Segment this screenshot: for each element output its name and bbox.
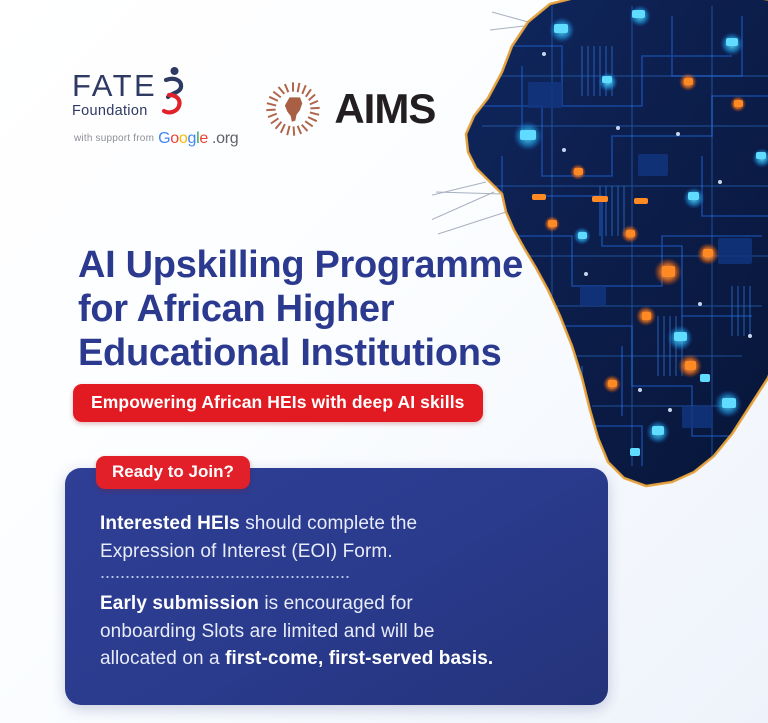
early-rest-line1: is encouraged for — [259, 593, 413, 614]
google-letter-o1: o — [170, 131, 179, 147]
fate-foundation-logo: FATE Foundation with support from Google… — [72, 70, 238, 148]
early-line3-bold: first-come, first-served basis. — [225, 648, 493, 669]
headline-line-2: for African Higher — [78, 287, 658, 331]
google-wordmark: Google — [158, 131, 208, 147]
early-bold-lead: Early submission — [100, 593, 259, 614]
tagline-banner: Empowering African HEIs with deep AI ski… — [73, 384, 483, 422]
poster-canvas: FATE Foundation with support from Google… — [0, 0, 768, 723]
google-letter-g2: g — [187, 131, 196, 147]
fate-subtitle: Foundation — [72, 104, 148, 119]
paragraph-eoi: Interested HEIs should complete the Expr… — [100, 510, 580, 565]
google-letter-o2: o — [179, 131, 188, 147]
google-letter-e: e — [199, 131, 208, 147]
support-prefix: with support from — [74, 133, 154, 144]
aims-wordmark: AIMS — [334, 88, 435, 130]
dotted-divider — [100, 576, 350, 578]
paragraph-early-submission: Early submission is encouraged for onboa… — [100, 590, 580, 673]
fate-logo-mark: FATE Foundation — [72, 70, 184, 119]
page-title: AI Upskilling Programme for African High… — [78, 243, 658, 375]
logo-row: FATE Foundation with support from Google… — [72, 70, 435, 148]
google-org-suffix: .org — [212, 130, 238, 148]
person-figure-icon — [158, 66, 184, 116]
early-line2: onboarding Slots are limited and will be — [100, 618, 580, 646]
card-body: Interested HEIs should complete the Expr… — [100, 510, 580, 673]
eoi-line2: Expression of Interest (EOI) Form. — [100, 538, 580, 566]
headline-line-1: AI Upskilling Programme — [78, 243, 658, 287]
aims-logo: AIMS — [264, 80, 435, 138]
early-line3-pre: allocated on a — [100, 648, 225, 669]
headline-line-3: Educational Institutions — [78, 331, 658, 375]
ready-to-join-badge: Ready to Join? — [96, 456, 250, 489]
google-support-line: with support from Google .org — [74, 130, 238, 148]
eoi-rest-line1: should complete the — [240, 513, 417, 534]
aims-sunburst-africa-icon — [264, 80, 322, 138]
fate-wordmark: FATE — [72, 70, 157, 101]
google-letter-g1: G — [158, 131, 170, 147]
eoi-bold-lead: Interested HEIs — [100, 513, 240, 534]
